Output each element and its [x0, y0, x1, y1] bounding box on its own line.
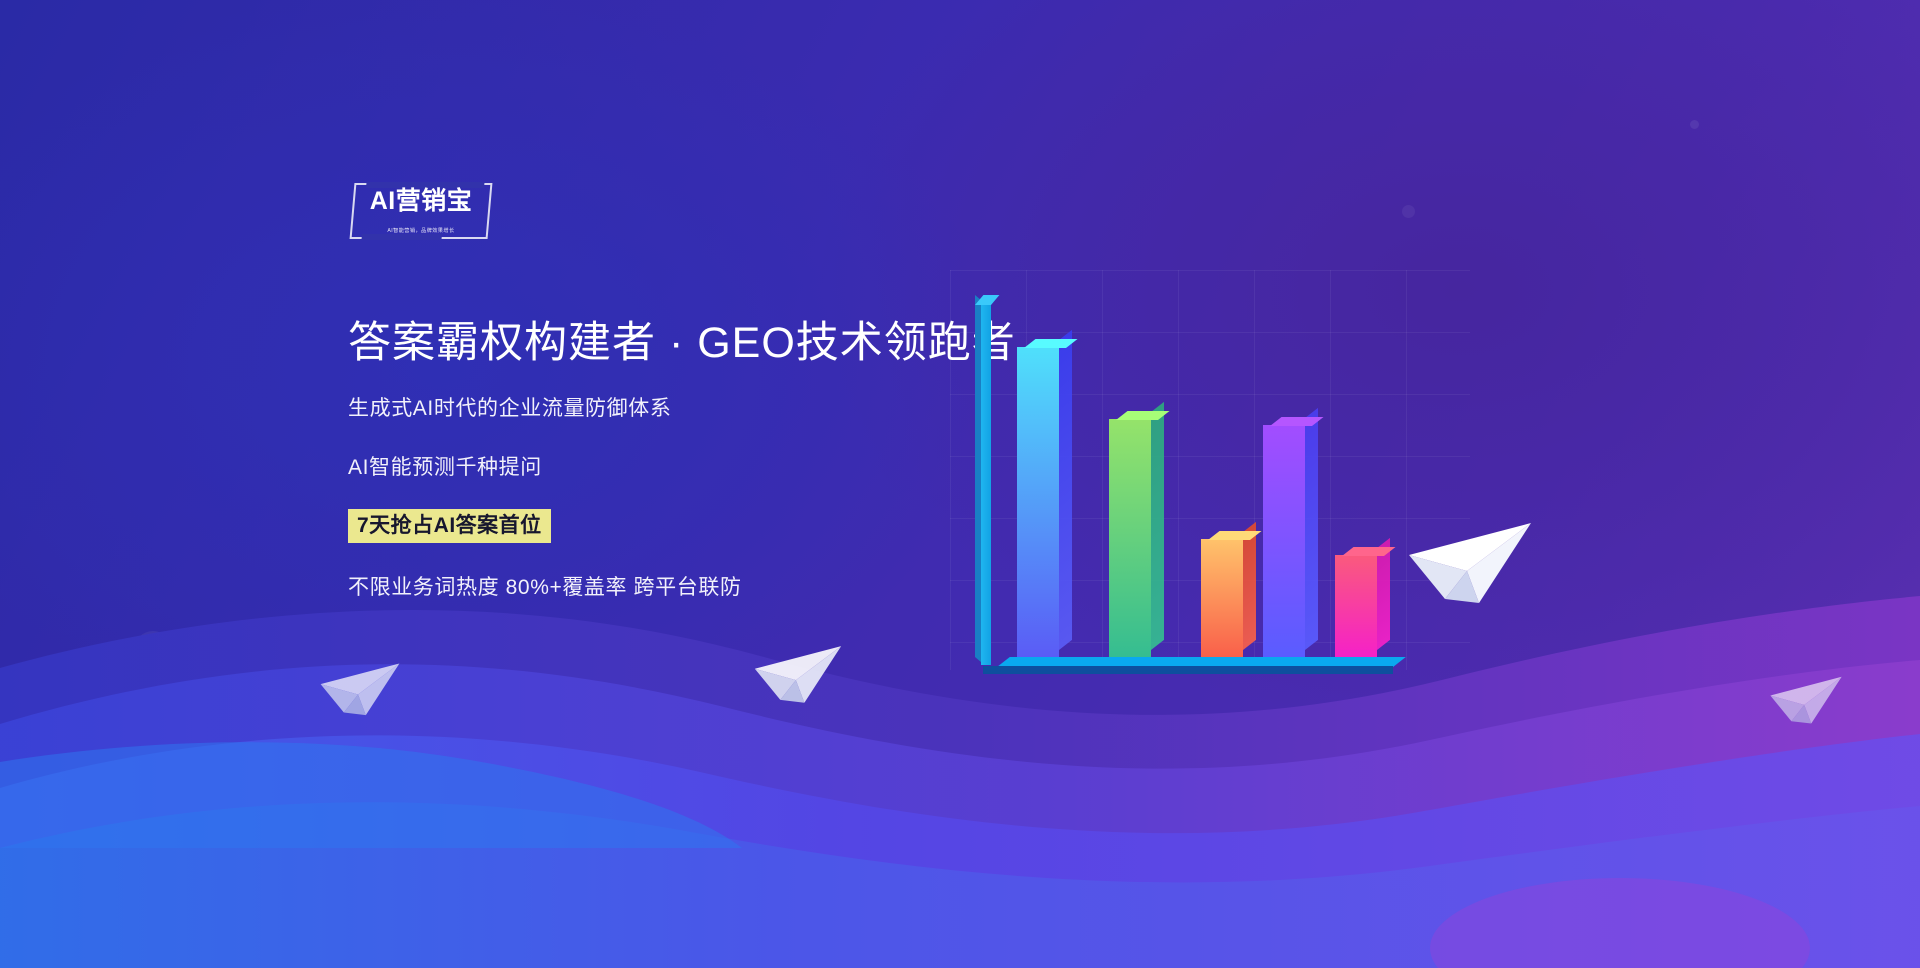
logo[interactable]: AI营销宝 AI智能营销，品牌效果增长 — [352, 183, 490, 239]
hero-banner: AI营销宝 AI智能营销，品牌效果增长 答案霸权构建者 · GEO技术领跑者 生… — [0, 0, 1920, 968]
wave-decoration — [0, 548, 1920, 968]
paper-plane-mid-icon — [752, 640, 844, 706]
paper-plane-left-icon — [318, 658, 402, 718]
hero-highlight-badge: 7天抢占AI答案首位 — [348, 509, 551, 543]
decorative-circle — [1690, 120, 1699, 129]
logo-wordmark: AI营销宝 — [352, 186, 490, 217]
paper-plane-right-icon — [1405, 515, 1535, 607]
paper-plane-far-right-icon — [1768, 672, 1844, 726]
decorative-circle — [1402, 205, 1415, 218]
logo-tagline: AI智能营销，品牌效果增长 — [352, 227, 490, 234]
